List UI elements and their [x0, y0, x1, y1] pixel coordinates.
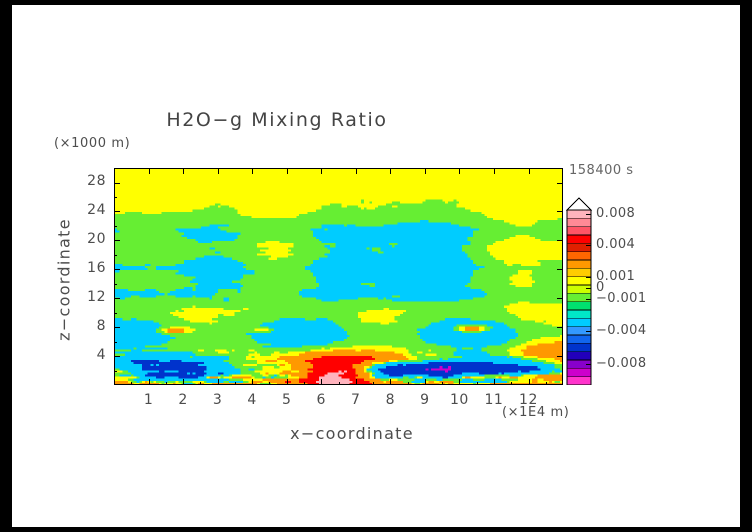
y-tick-mark: [114, 298, 120, 299]
x-tick-mark-top: [494, 168, 495, 174]
x-tick-mark-top: [459, 168, 460, 174]
y-tick-mark: [114, 356, 120, 357]
x-tick-mark: [252, 379, 253, 385]
x-tick-mark: [149, 379, 150, 385]
x-tick-mark: [529, 379, 530, 385]
x-minor-tick: [477, 382, 478, 385]
y-tick-mark-right: [557, 183, 563, 184]
y-tick-mark-right: [557, 211, 563, 212]
x-minor-tick: [442, 382, 443, 385]
colorbar-tick-label: 0.008: [596, 206, 635, 221]
x-tick-mark: [356, 379, 357, 385]
x-tick-mark: [459, 379, 460, 385]
y-minor-tick: [114, 284, 117, 285]
y-tick-label: 28: [66, 173, 106, 189]
y-minor-tick: [114, 371, 117, 372]
contour-field: [114, 168, 563, 385]
x-tick-mark: [287, 379, 288, 385]
y-tick-label: 20: [66, 231, 106, 247]
colorbar-swatches[interactable]: [566, 197, 592, 385]
x-minor-tick: [511, 382, 512, 385]
x-tick-mark-top: [183, 168, 184, 174]
y-tick-mark: [114, 327, 120, 328]
y-tick-label: 4: [66, 347, 106, 363]
contour-plot-area: [114, 168, 563, 385]
x-minor-tick: [408, 382, 409, 385]
y-tick-label: 24: [66, 202, 106, 218]
colorbar-tick-label: −0.008: [596, 356, 647, 371]
timestamp-label: 158400 s: [569, 163, 634, 178]
x-tick-mark-top: [356, 168, 357, 174]
x-minor-tick: [304, 382, 305, 385]
colorbar-tick-mark: [586, 364, 591, 365]
x-minor-tick: [373, 382, 374, 385]
y-tick-mark-right: [557, 240, 563, 241]
y-tick-label: 16: [66, 260, 106, 276]
x-tick-mark: [183, 379, 184, 385]
y-minor-tick: [114, 313, 117, 314]
y-minor-tick: [114, 342, 117, 343]
y-tick-label: 8: [66, 318, 106, 334]
y-tick-mark-right: [557, 298, 563, 299]
x-minor-tick: [235, 382, 236, 385]
colorbar-tick-mark: [586, 331, 591, 332]
y-tick-mark-right: [557, 269, 563, 270]
y-tick-label: 12: [66, 289, 106, 305]
y-minor-tick: [114, 197, 117, 198]
x-tick-mark-top: [149, 168, 150, 174]
y-tick-mark: [114, 240, 120, 241]
x-tick-mark-top: [321, 168, 322, 174]
y-tick-mark: [114, 269, 120, 270]
x-tick-label: 12: [508, 392, 548, 408]
x-minor-tick: [131, 382, 132, 385]
y-tick-mark: [114, 211, 120, 212]
colorbar-tick-label: −0.004: [596, 323, 647, 338]
y-tick-mark: [114, 183, 120, 184]
x-tick-mark-top: [252, 168, 253, 174]
x-tick-mark-top: [287, 168, 288, 174]
figure-canvas: H2O−g Mixing Ratio (×1000 m) (×1E4 m) x−…: [12, 5, 740, 527]
x-minor-tick: [200, 382, 201, 385]
y-minor-tick: [114, 255, 117, 256]
colorbar[interactable]: [566, 197, 592, 385]
x-tick-mark-top: [425, 168, 426, 174]
x-tick-mark-top: [529, 168, 530, 174]
y-minor-tick: [114, 226, 117, 227]
x-minor-tick: [339, 382, 340, 385]
y-tick-mark-right: [557, 356, 563, 357]
colorbar-tick-mark: [586, 214, 591, 215]
x-axis-title: x−coordinate: [182, 424, 522, 443]
colorbar-tick-label: −0.001: [596, 291, 647, 306]
x-tick-mark: [218, 379, 219, 385]
x-minor-tick: [166, 382, 167, 385]
x-minor-tick: [546, 382, 547, 385]
colorbar-tick-mark: [586, 277, 591, 278]
page-title: H2O−g Mixing Ratio: [12, 109, 542, 131]
colorbar-tick-mark: [586, 299, 591, 300]
x-tick-mark-top: [390, 168, 391, 174]
y-tick-mark-right: [557, 327, 563, 328]
colorbar-tick-mark: [586, 245, 591, 246]
x-tick-mark: [321, 379, 322, 385]
y-axis-title: z−coordinate: [55, 200, 74, 360]
x-tick-mark-top: [218, 168, 219, 174]
x-tick-mark: [425, 379, 426, 385]
y-axis-unit-label: (×1000 m): [54, 136, 130, 151]
colorbar-tick-mark: [586, 288, 591, 289]
x-minor-tick: [269, 382, 270, 385]
x-tick-mark: [494, 379, 495, 385]
x-tick-mark: [390, 379, 391, 385]
colorbar-tick-label: 0.004: [596, 237, 635, 252]
